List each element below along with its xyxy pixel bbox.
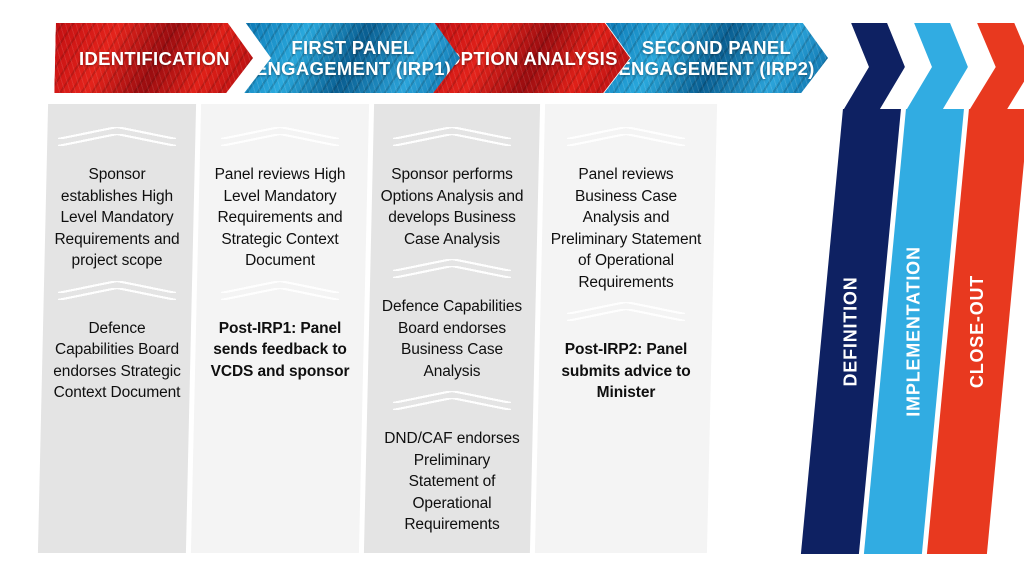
chevron-divider-icon — [393, 259, 511, 285]
phase-bar-label: DEFINITION — [840, 277, 861, 387]
phase-bar-label: CLOSE-OUT — [967, 275, 988, 388]
stage-header-label: OPTION ANALYSIS — [442, 48, 622, 69]
stage-column-first-panel-engagement: Panel reviews High Level Mandatory Requi… — [191, 104, 369, 553]
stage-block-text: Panel reviews High Level Mandatory Requi… — [196, 164, 364, 272]
chevron-divider-icon — [393, 391, 511, 417]
chevron-divider-icon — [393, 127, 511, 153]
stage-block-text: Sponsor performs Options Analysis and de… — [369, 164, 535, 250]
stage-block-text: DND/CAF endorses Preliminary Statement o… — [369, 428, 535, 536]
stage-column-identification: Sponsor establishes High Level Mandatory… — [38, 104, 196, 553]
stage-header-label: SECOND PANEL ENGAGEMENT (IRP2) — [605, 37, 828, 79]
stage-block-text: Defence Capabilities Board endorses Busi… — [369, 296, 535, 382]
stage-block-text: Post-IRP1: Panel sends feedback to VCDS … — [196, 318, 364, 383]
stage-header-label: FIRST PANEL ENGAGEMENT (IRP1) — [245, 37, 461, 79]
phase-bar-chevron-head-icon — [969, 23, 1024, 111]
stage-header-identification[interactable]: IDENTIFICATION — [54, 23, 254, 93]
chevron-divider-icon — [567, 302, 685, 328]
chevron-divider-icon — [221, 281, 339, 307]
stage-block-text: Defence Capabilities Board endorses Stra… — [43, 318, 191, 404]
stage-block-text: Sponsor establishes High Level Mandatory… — [43, 164, 191, 272]
stage-column-option-analysis: Sponsor performs Options Analysis and de… — [364, 104, 540, 553]
stage-block-text: Post-IRP2: Panel submits advice to Minis… — [540, 339, 712, 404]
stage-header-first-panel-engagement[interactable]: FIRST PANEL ENGAGEMENT (IRP1) — [244, 23, 462, 93]
chevron-divider-icon — [58, 127, 176, 153]
chevron-divider-icon — [567, 127, 685, 153]
chevron-divider-icon — [221, 127, 339, 153]
stage-header-label: IDENTIFICATION — [75, 48, 234, 69]
chevron-divider-icon — [58, 281, 176, 307]
process-flow-diagram: Sponsor establishes High Level Mandatory… — [0, 0, 1024, 575]
phase-bar-chevron-head-icon — [906, 23, 972, 111]
phase-bar-label: IMPLEMENTATION — [903, 246, 924, 417]
stage-header-second-panel-engagement[interactable]: SECOND PANEL ENGAGEMENT (IRP2) — [604, 23, 829, 93]
stage-header-option-analysis[interactable]: OPTION ANALYSIS — [433, 23, 631, 93]
stage-column-second-panel-engagement: Panel reviews Business Case Analysis and… — [535, 104, 717, 553]
phase-bar-chevron-head-icon — [843, 23, 909, 111]
stage-block-text: Panel reviews Business Case Analysis and… — [540, 164, 712, 293]
